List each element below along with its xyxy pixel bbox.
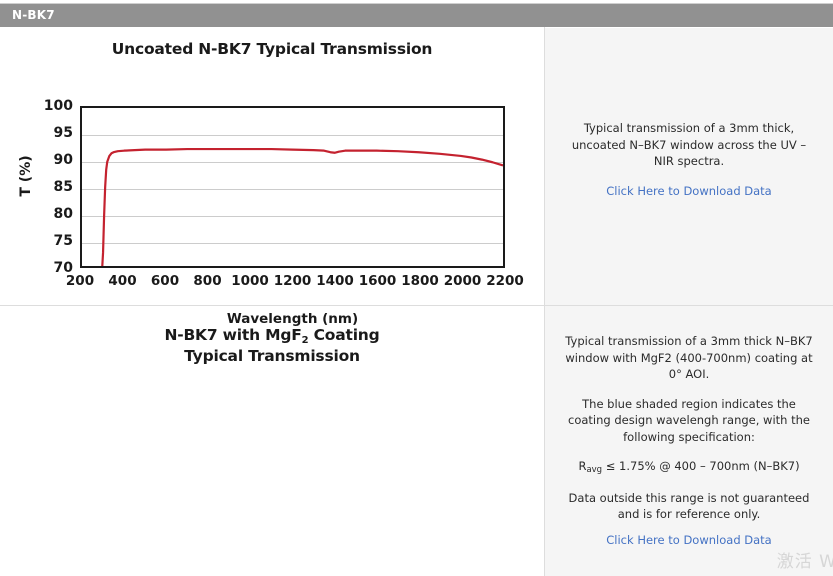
info-panel-mgf2: Typical transmission of a 3mm thick N–BK… xyxy=(545,306,833,576)
x-axis-tick: 1400 xyxy=(316,273,354,289)
subscript-avg: avg xyxy=(586,465,602,475)
subscript-2: 2 xyxy=(302,335,309,346)
y-axis-tick: 95 xyxy=(54,125,73,141)
x-axis-tick: 1000 xyxy=(231,273,269,289)
reflectance-specification: Ravg ≤ 1.75% @ 400 – 700nm (N–BK7) xyxy=(561,458,817,477)
y-axis-label-top: T (%) xyxy=(18,146,34,206)
y-axis-tick: 75 xyxy=(54,233,73,249)
plot-area-uncoated: 707580859095100 200400600800100012001400… xyxy=(80,106,505,268)
x-axis-tick: 1200 xyxy=(274,273,312,289)
activation-watermark: 激活 W xyxy=(777,547,833,572)
y-axis-tick: 85 xyxy=(54,179,73,195)
section-header-label: N-BK7 xyxy=(12,8,55,22)
x-axis-tick: 800 xyxy=(193,273,221,289)
info-description-uncoated: Typical transmission of a 3mm thick, unc… xyxy=(561,120,817,170)
y-axis-tick: 80 xyxy=(54,206,73,222)
x-axis-tick: 200 xyxy=(66,273,94,289)
chart-title-mgf2: N-BK7 with MgF2 Coating Typical Transmis… xyxy=(0,326,544,366)
info-description-mgf2-3: Data outside this range is not guarantee… xyxy=(561,490,817,523)
x-axis-tick: 1800 xyxy=(401,273,439,289)
x-axis-tick: 400 xyxy=(108,273,136,289)
screenshot-root: N-BK7 Uncoated N-BK7 Typical Transmissio… xyxy=(0,0,833,576)
chart-uncoated-transmission: Uncoated N-BK7 Typical Transmission T (%… xyxy=(0,28,544,305)
plot-frame-uncoated xyxy=(80,106,505,268)
y-axis-tick: 90 xyxy=(54,152,73,168)
section-header-bar: N-BK7 xyxy=(0,3,833,27)
chart-title-mgf2-line1: N-BK7 with MgF2 Coating xyxy=(164,326,379,344)
chart-title-uncoated: Uncoated N-BK7 Typical Transmission xyxy=(0,40,544,58)
info-description-mgf2-1: Typical transmission of a 3mm thick N–BK… xyxy=(561,333,817,383)
curve-uncoated xyxy=(82,108,503,266)
x-axis-tick: 1600 xyxy=(359,273,397,289)
chart-mgf2-transmission: N-BK7 with MgF2 Coating Typical Transmis… xyxy=(0,306,544,576)
info-panel-uncoated: Typical transmission of a 3mm thick, unc… xyxy=(545,28,833,305)
download-data-link-mgf2[interactable]: Click Here to Download Data xyxy=(561,532,817,549)
download-data-link-uncoated[interactable]: Click Here to Download Data xyxy=(561,183,817,200)
x-axis-tick: 2000 xyxy=(444,273,482,289)
x-axis-tick: 2200 xyxy=(486,273,524,289)
info-description-mgf2-2: The blue shaded region indicates the coa… xyxy=(561,396,817,446)
y-axis-tick: 100 xyxy=(44,98,73,114)
x-axis-tick: 600 xyxy=(151,273,179,289)
chart-title-mgf2-line2: Typical Transmission xyxy=(184,347,360,365)
